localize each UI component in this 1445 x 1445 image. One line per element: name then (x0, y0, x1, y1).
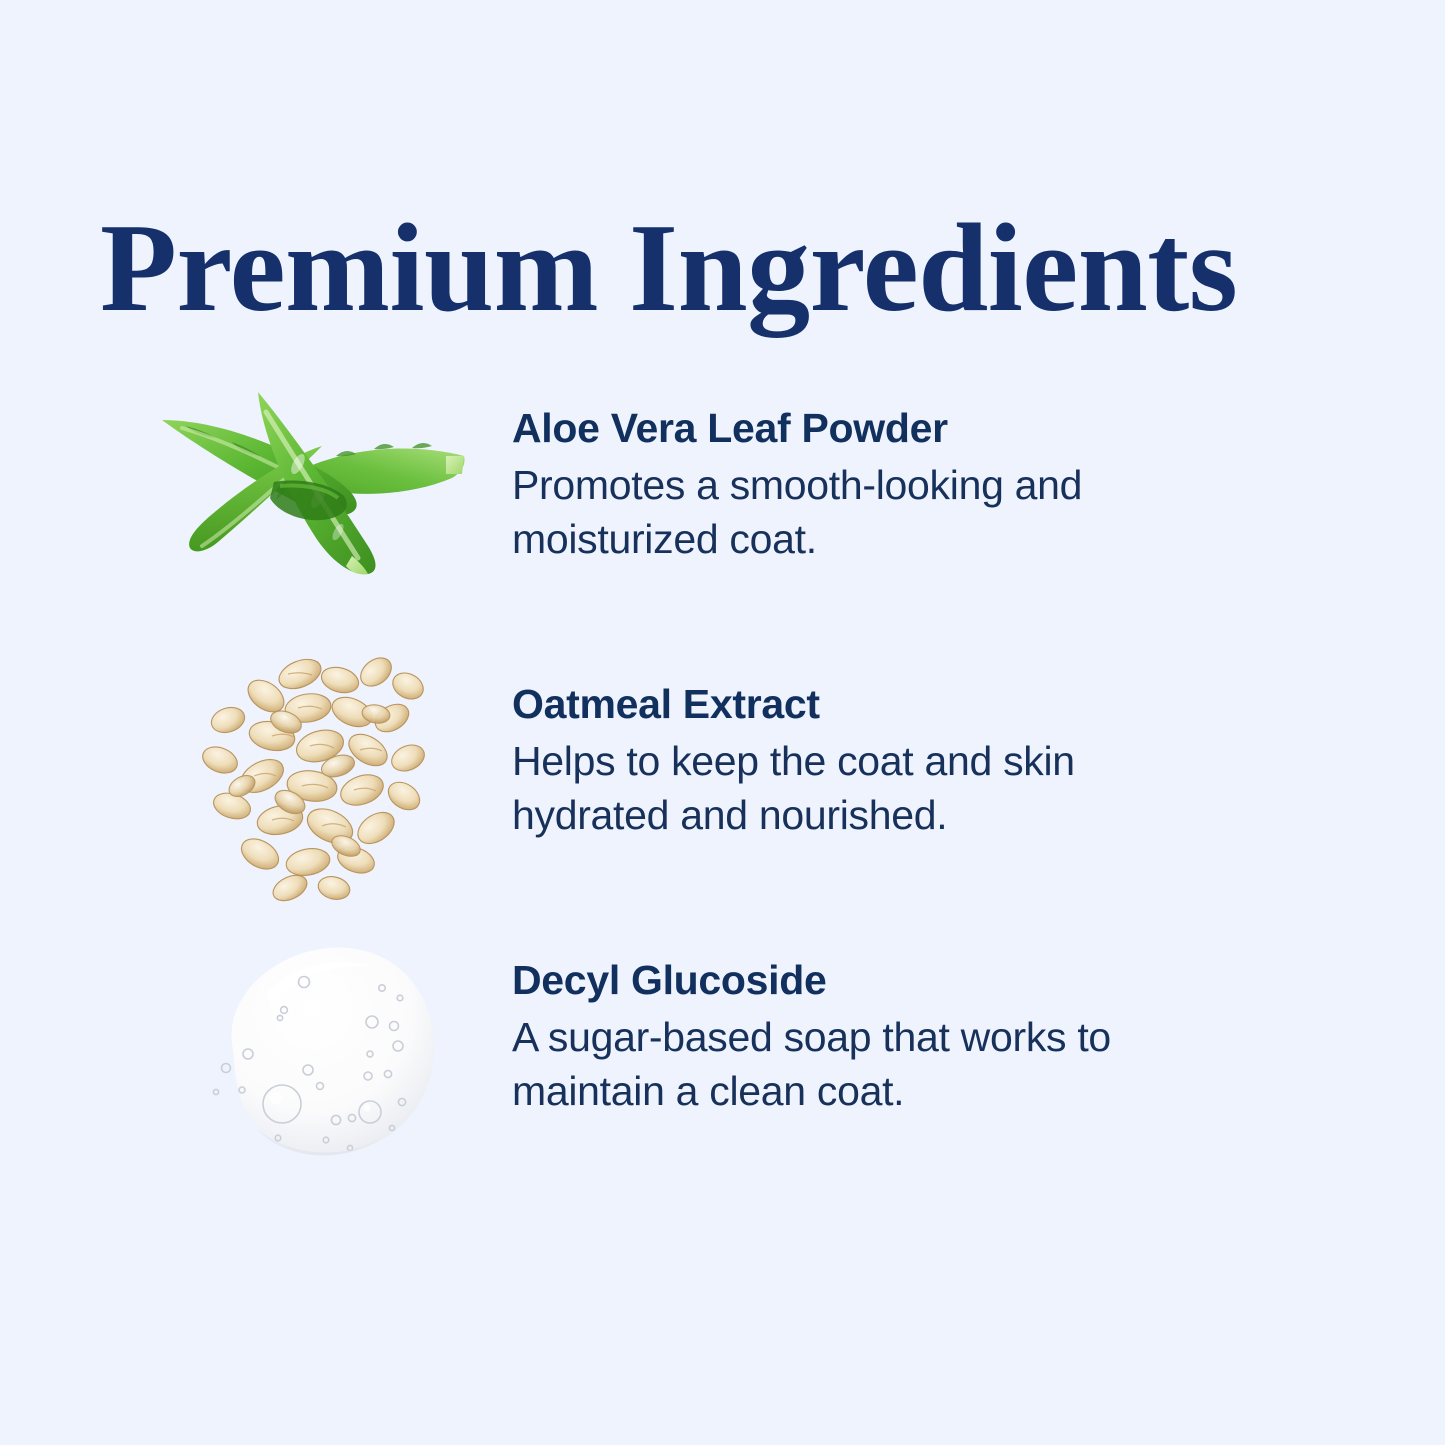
ingredient-row-oatmeal: Oatmeal Extract Helps to keep the coat a… (0, 658, 1445, 936)
ingredient-description: Promotes a smooth-looking and moisturize… (512, 458, 1212, 566)
oat-flakes-icon (180, 650, 450, 900)
ingredient-row-decyl-glucoside: Decyl Glucoside A sugar-based soap that … (0, 936, 1445, 1214)
ingredient-row-aloe-vera: Aloe Vera Leaf Powder Promotes a smooth-… (0, 380, 1445, 658)
ingredient-heading: Aloe Vera Leaf Powder (512, 404, 1302, 452)
premium-ingredients-panel: Premium Ingredients (0, 0, 1445, 1445)
ingredient-list: Aloe Vera Leaf Powder Promotes a smooth-… (0, 380, 1445, 1214)
ingredient-description: Helps to keep the coat and skin hydrated… (512, 734, 1212, 842)
ingredient-description: A sugar-based soap that works to maintai… (512, 1010, 1212, 1118)
ingredient-text-oatmeal: Oatmeal Extract Helps to keep the coat a… (512, 680, 1302, 843)
ingredient-text-aloe-vera: Aloe Vera Leaf Powder Promotes a smooth-… (512, 404, 1302, 567)
ingredient-heading: Oatmeal Extract (512, 680, 1302, 728)
page-title: Premium Ingredients (100, 206, 1360, 332)
gel-droplet-icon (186, 932, 466, 1162)
ingredient-heading: Decyl Glucoside (512, 956, 1302, 1004)
aloe-vera-icon (146, 386, 476, 576)
ingredient-text-decyl-glucoside: Decyl Glucoside A sugar-based soap that … (512, 956, 1302, 1119)
